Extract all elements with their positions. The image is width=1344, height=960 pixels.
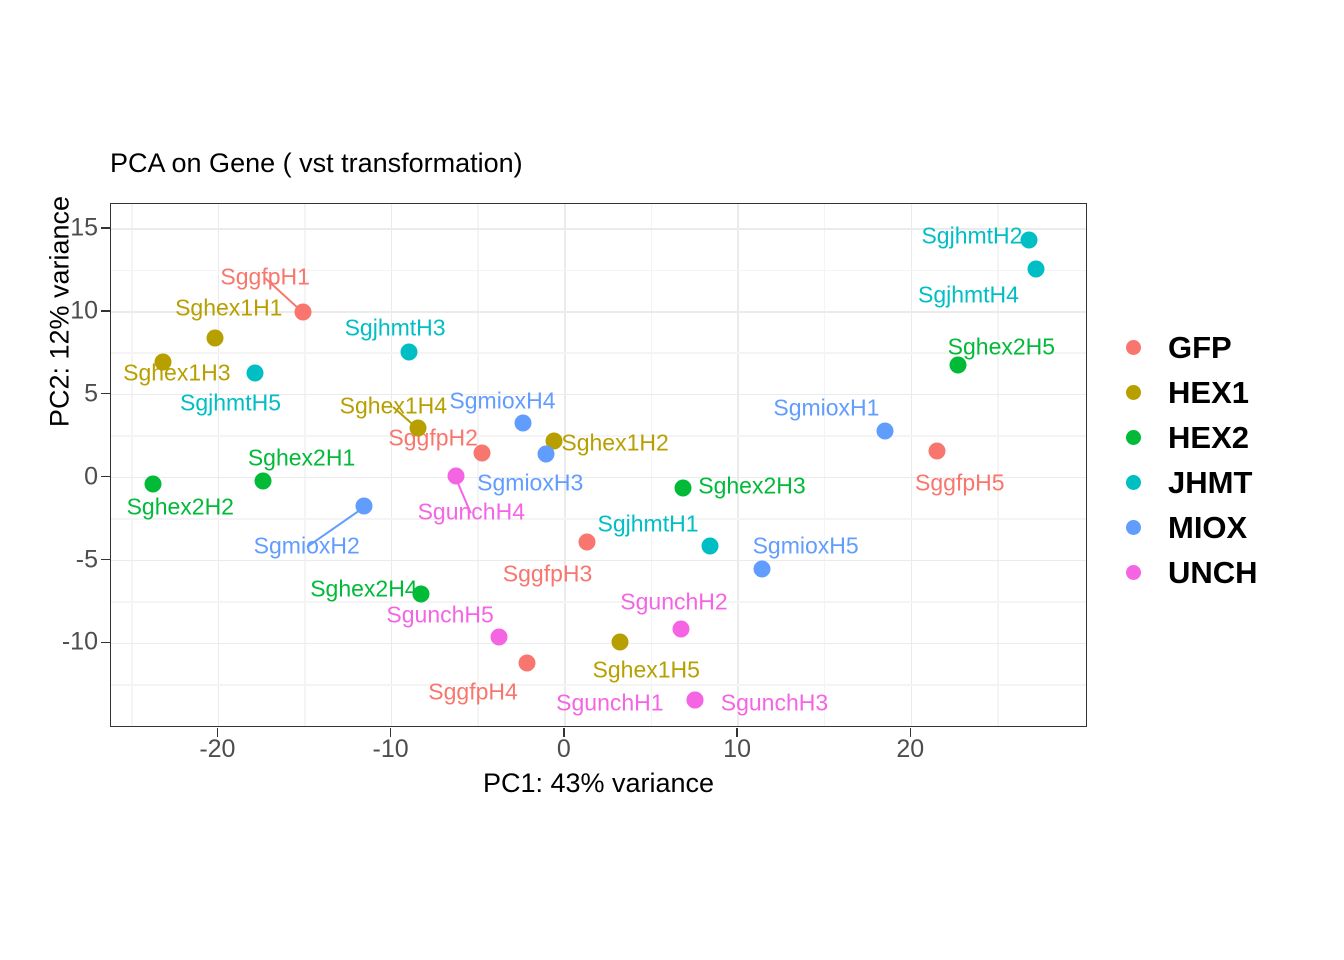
point-label-sggfph4: SggfpH4 [428, 678, 518, 705]
point-label-sgmioxh4: SgmioxH4 [449, 388, 555, 415]
legend-dot-icon [1126, 475, 1141, 490]
data-point-sgmioxh4 [515, 414, 532, 431]
point-label-sgmioxh5: SgmioxH5 [753, 532, 859, 559]
point-label-sghex2h4: Sghex2H4 [310, 575, 417, 602]
point-label-sggfph2: SggfpH2 [388, 424, 478, 451]
y-tick-label: 10 [70, 296, 98, 325]
data-point-sgjhmth2 [1021, 232, 1038, 249]
data-point-sghex2h1 [255, 472, 272, 489]
page-title: PCA on Gene ( vst transformation) [110, 148, 523, 179]
x-tick-label: 20 [896, 735, 924, 764]
x-tick-mark [390, 728, 392, 737]
data-point-sggfph2 [473, 444, 490, 461]
data-point-sghex2h2 [144, 476, 161, 493]
data-point-sgjhmth3 [400, 343, 417, 360]
legend-dot-icon [1126, 565, 1141, 580]
legend-color-swatch [1120, 515, 1146, 541]
data-point-sggfph1 [295, 303, 312, 320]
data-point-sghex1h4 [409, 419, 426, 436]
point-label-sgunchh1: SgunchH1 [556, 690, 663, 717]
point-label-sghex2h1: Sghex2H1 [248, 444, 355, 471]
data-point-sgmioxh5 [754, 560, 771, 577]
x-tick-label: 10 [723, 735, 751, 764]
data-point-sgjhmth4 [1028, 260, 1045, 277]
y-tick-mark [101, 476, 110, 478]
data-layer: SggfpH1SggfpH2SggfpH3SggfpH4SggfpH5Sghex… [111, 204, 1086, 726]
point-label-sghex1h5: Sghex1H5 [593, 656, 700, 683]
legend-dot-icon [1126, 430, 1141, 445]
y-tick-label: -5 [76, 545, 98, 574]
y-tick-label: 0 [84, 462, 98, 491]
x-axis-label: PC1: 43% variance [110, 768, 1087, 799]
y-tick-mark [101, 227, 110, 229]
data-point-sghex2h5 [950, 356, 967, 373]
legend-item-label: UNCH [1168, 557, 1258, 588]
y-tick-mark [101, 559, 110, 561]
x-tick-mark [736, 728, 738, 737]
legend-item-miox[interactable]: MIOX [1120, 505, 1258, 550]
data-point-sgunchh4 [447, 467, 464, 484]
legend-item-label: MIOX [1168, 512, 1247, 543]
legend-dot-icon [1126, 520, 1141, 535]
point-label-sgunchh2: SgunchH2 [620, 588, 727, 615]
data-point-sgjhmth1 [702, 537, 719, 554]
data-point-sgunchh5 [491, 628, 508, 645]
data-point-sghex1h3 [154, 353, 171, 370]
x-tick-label: 0 [557, 735, 571, 764]
x-tick-mark [910, 728, 912, 737]
legend-item-hex2[interactable]: HEX2 [1120, 415, 1258, 460]
data-point-sghex1h5 [612, 633, 629, 650]
point-label-sgjhmth2: SgjhmtH2 [921, 222, 1022, 249]
data-point-sghex2h3 [674, 479, 691, 496]
point-label-sgunchh5: SgunchH5 [386, 602, 493, 629]
legend-color-swatch [1120, 335, 1146, 361]
point-label-sgmioxh2: SgmioxH2 [254, 532, 360, 559]
y-tick-label: 5 [84, 379, 98, 408]
data-point-sghex2h4 [413, 585, 430, 602]
point-label-sgmioxh1: SgmioxH1 [773, 394, 879, 421]
data-point-sggfph5 [929, 443, 946, 460]
point-label-sghex1h2: Sghex1H2 [561, 429, 668, 456]
point-label-sgunchh3: SgunchH3 [721, 690, 828, 717]
legend-item-gfp[interactable]: GFP [1120, 325, 1258, 370]
legend-color-swatch [1120, 560, 1146, 586]
y-tick-label: -10 [62, 628, 98, 657]
x-tick-mark [217, 728, 219, 737]
point-label-sgjhmth4: SgjhmtH4 [918, 282, 1019, 309]
data-point-sgunchh2 [672, 620, 689, 637]
legend: GFPHEX1HEX2JHMTMIOXUNCH [1120, 325, 1258, 595]
point-label-sghex1h3: Sghex1H3 [123, 360, 230, 387]
data-point-sgjhmth5 [246, 365, 263, 382]
point-label-sghex1h1: Sghex1H1 [175, 295, 282, 322]
point-label-sgjhmth5: SgjhmtH5 [180, 389, 281, 416]
point-label-sghex2h5: Sghex2H5 [948, 333, 1055, 360]
legend-dot-icon [1126, 340, 1141, 355]
legend-item-label: JHMT [1168, 467, 1252, 498]
legend-item-label: HEX2 [1168, 422, 1249, 453]
point-label-sgmioxh3: SgmioxH3 [477, 469, 583, 496]
point-label-sghex1h4: Sghex1H4 [340, 393, 447, 420]
legend-color-swatch [1120, 425, 1146, 451]
legend-item-label: GFP [1168, 332, 1232, 363]
y-tick-mark [101, 310, 110, 312]
legend-item-jhmt[interactable]: JHMT [1120, 460, 1258, 505]
legend-item-unch[interactable]: UNCH [1120, 550, 1258, 595]
point-label-sgjhmth3: SgjhmtH3 [345, 315, 446, 342]
point-label-sggfph1: SggfpH1 [220, 263, 310, 290]
point-label-sghex2h2: Sghex2H2 [127, 494, 234, 521]
x-tick-mark [563, 728, 565, 737]
legend-color-swatch [1120, 380, 1146, 406]
y-tick-mark [101, 393, 110, 395]
legend-color-swatch [1120, 470, 1146, 496]
data-point-sgunchh3 [686, 691, 703, 708]
x-tick-label: -10 [373, 735, 409, 764]
legend-item-label: HEX1 [1168, 377, 1249, 408]
data-point-sggfph4 [518, 655, 535, 672]
point-label-sgunchh4: SgunchH4 [418, 499, 525, 526]
x-tick-label: -20 [199, 735, 235, 764]
point-label-sgjhmth1: SgjhmtH1 [598, 511, 699, 538]
y-tick-mark [101, 642, 110, 644]
data-point-sggfph3 [579, 534, 596, 551]
data-point-sgmioxh3 [537, 446, 554, 463]
point-label-sghex2h3: Sghex2H3 [698, 472, 805, 499]
y-tick-label: 15 [70, 213, 98, 242]
pca-plot-figure: PCA on Gene ( vst transformation) SggfpH… [0, 0, 1344, 960]
data-point-sghex1h1 [206, 330, 223, 347]
point-label-sggfph3: SggfpH3 [503, 560, 593, 587]
point-label-sggfph5: SggfpH5 [915, 469, 1005, 496]
legend-dot-icon [1126, 385, 1141, 400]
legend-item-hex1[interactable]: HEX1 [1120, 370, 1258, 415]
data-point-sgmioxh2 [355, 497, 372, 514]
data-point-sgmioxh1 [877, 423, 894, 440]
plot-panel: SggfpH1SggfpH2SggfpH3SggfpH4SggfpH5Sghex… [110, 203, 1087, 727]
